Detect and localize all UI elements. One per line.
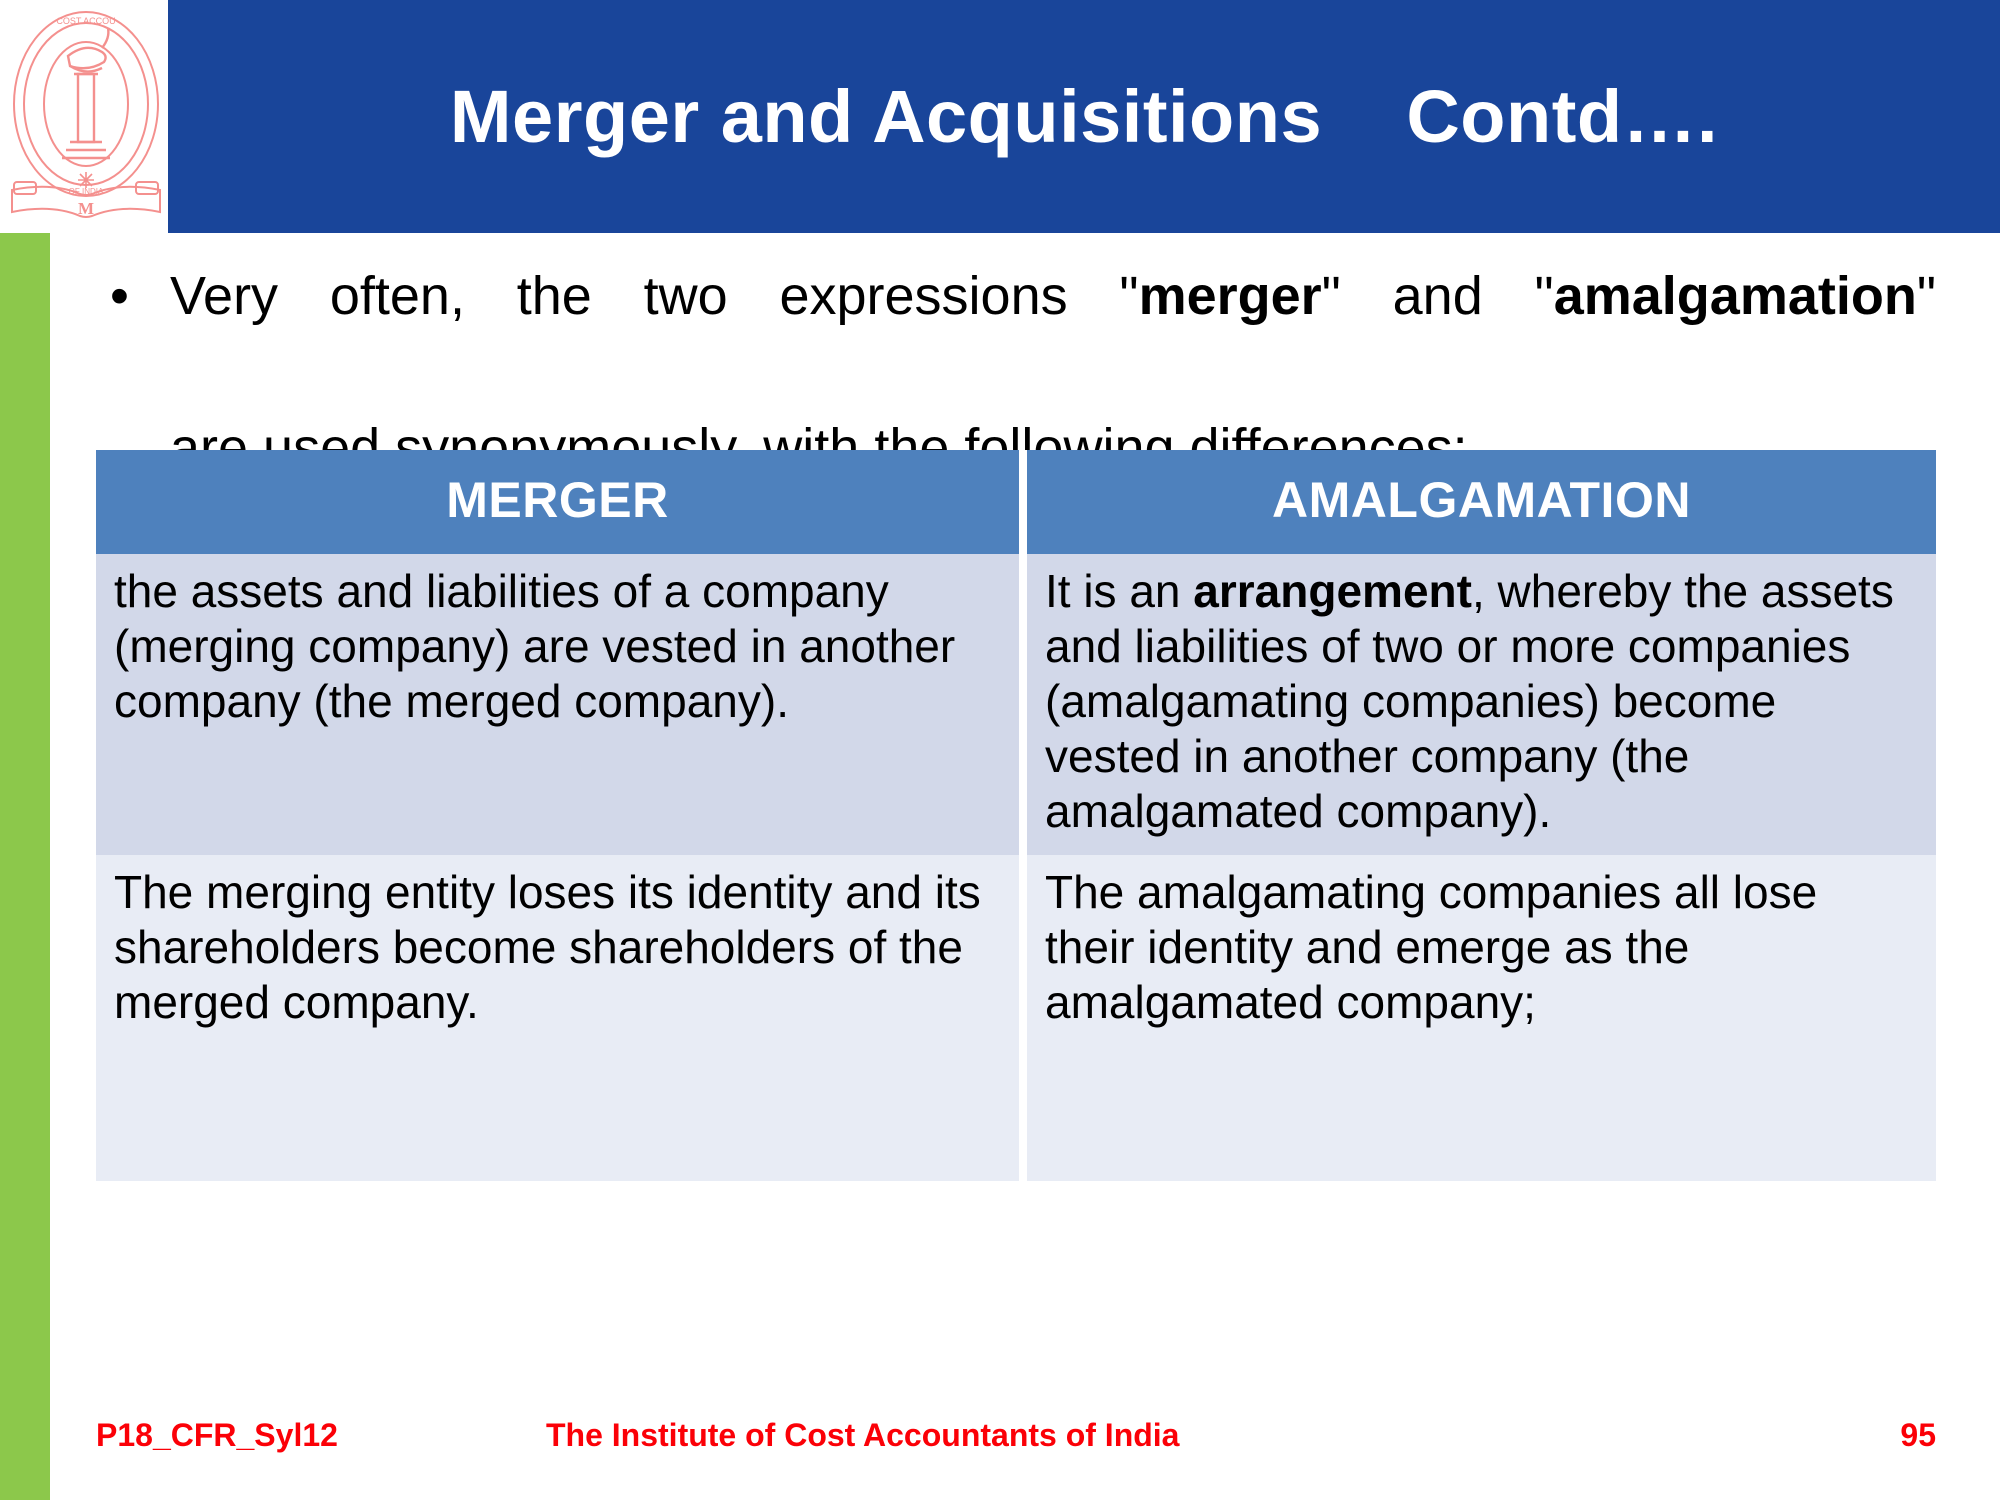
svg-text:M: M <box>78 199 94 218</box>
table-row: the assets and liabilities of a company … <box>96 554 1936 855</box>
institute-seal-icon: M COST ACCOU OF INDIA <box>6 4 166 232</box>
left-accent-strip <box>0 233 50 1500</box>
cell-merger-1: the assets and liabilities of a company … <box>96 554 1019 855</box>
cell-term-arrangement: arrangement <box>1193 565 1472 617</box>
column-divider <box>1019 450 1027 554</box>
footer-subject-code: P18_CFR_Syl12 <box>96 1417 526 1454</box>
bullet-marker: • <box>96 258 170 334</box>
footer-page-number: 95 <box>1816 1417 1936 1454</box>
cell-text-a: It is an <box>1045 565 1193 617</box>
slide-canvas: Merger and Acquisitions Contd…. <box>0 0 2000 1500</box>
page-title: Merger and Acquisitions Contd…. <box>450 78 1718 156</box>
footer-institute-name: The Institute of Cost Accountants of Ind… <box>526 1417 1816 1454</box>
bullet-text-c: " and " <box>1322 266 1554 326</box>
bullet-term-amalgamation: amalgamation <box>1554 266 1917 326</box>
svg-text:OF INDIA: OF INDIA <box>69 187 104 196</box>
cell-divider <box>1019 855 1027 1181</box>
cell-divider <box>1019 554 1027 855</box>
cell-amalgamation-2: The amalgamating companies all lose thei… <box>1027 855 1936 1181</box>
table-row: The merging entity loses its identity an… <box>96 855 1936 1181</box>
cell-merger-2: The merging entity loses its identity an… <box>96 855 1019 1181</box>
svg-text:COST ACCOU: COST ACCOU <box>56 16 115 26</box>
comparison-table: MERGER AMALGAMATION the assets and liabi… <box>96 450 1936 1181</box>
table-header-row: MERGER AMALGAMATION <box>96 450 1936 554</box>
cell-amalgamation-1: It is an arrangement, whereby the assets… <box>1027 554 1936 855</box>
bullet-text-a: Very often, the two expressions " <box>170 266 1139 326</box>
slide-footer: P18_CFR_Syl12 The Institute of Cost Acco… <box>96 1405 1936 1465</box>
bullet-line-1: Very often, the two expressions "merger"… <box>170 266 1936 402</box>
title-bar: Merger and Acquisitions Contd…. <box>168 0 2000 233</box>
column-header-merger: MERGER <box>96 450 1019 554</box>
column-header-amalgamation: AMALGAMATION <box>1027 450 1936 554</box>
institute-logo: M COST ACCOU OF INDIA <box>6 4 166 232</box>
bullet-term-merger: merger <box>1139 266 1322 326</box>
bullet-text-e: " <box>1917 266 1936 326</box>
